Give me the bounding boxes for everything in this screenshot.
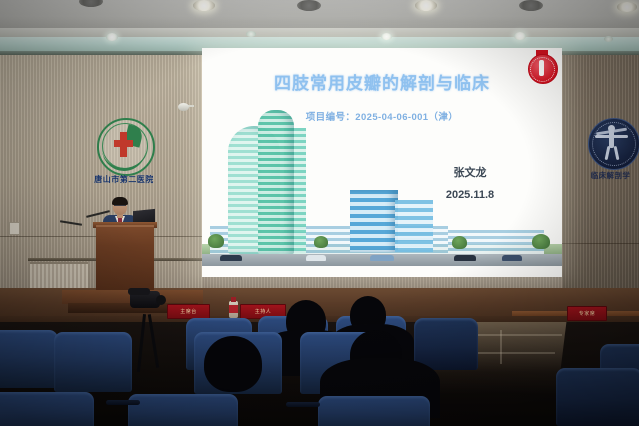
ceiling-downlight-on bbox=[617, 2, 637, 12]
anatomy-logo-right-label: 临床解剖学 bbox=[582, 170, 639, 181]
hospital-logo-left-label: 唐山市第二医院 bbox=[92, 174, 156, 185]
slide-tree bbox=[452, 236, 467, 249]
anatomy-logo-right: 临床解剖学 bbox=[582, 118, 639, 190]
nameplate: 主席台 bbox=[167, 304, 210, 319]
lecture-hall-photo: 四肢常用皮瓣的解剖与临床 项目编号：2025-04-06-001（津） 张文龙 … bbox=[0, 0, 639, 426]
slide-car bbox=[306, 255, 326, 261]
slide-tree bbox=[532, 234, 550, 249]
podium bbox=[96, 225, 154, 295]
floor-seam bbox=[500, 330, 502, 364]
seat[interactable] bbox=[414, 318, 478, 370]
cove-light bbox=[514, 32, 526, 40]
nameplate: 专家席 bbox=[567, 306, 607, 321]
seat[interactable] bbox=[128, 394, 238, 426]
slide-author: 张文龙 bbox=[380, 164, 560, 180]
slide-tower-b bbox=[258, 110, 294, 254]
light-switch[interactable] bbox=[9, 222, 20, 235]
slide-tree bbox=[208, 234, 224, 248]
ceiling-downlight-off bbox=[297, 0, 321, 11]
slide-title: 四肢常用皮瓣的解剖与临床 bbox=[202, 69, 562, 94]
seat[interactable] bbox=[556, 368, 639, 426]
seat[interactable] bbox=[54, 332, 132, 392]
speaker-hair bbox=[112, 197, 128, 205]
slide-car bbox=[454, 255, 476, 261]
slide-tree bbox=[314, 236, 328, 248]
slide-project-number: 项目编号：2025-04-06-001（津） bbox=[202, 109, 562, 123]
ceiling-downlight-on bbox=[193, 0, 215, 11]
seat[interactable] bbox=[318, 396, 430, 426]
slide-midrise-b bbox=[395, 200, 433, 252]
seat-armrest bbox=[106, 400, 140, 405]
ceiling-downlight-on bbox=[415, 0, 437, 11]
projection-screen: 四肢常用皮瓣的解剖与临床 项目编号：2025-04-06-001（津） 张文龙 … bbox=[202, 48, 562, 277]
cove-light bbox=[106, 33, 118, 41]
audience-head bbox=[204, 336, 262, 392]
seat[interactable] bbox=[0, 392, 94, 426]
red-medical-emblem-icon bbox=[527, 50, 557, 84]
cove-light bbox=[246, 31, 256, 37]
hospital-logo-left: 唐山市第二医院 bbox=[92, 118, 156, 190]
slide-date: 2025.11.8 bbox=[380, 189, 560, 201]
water-bottle bbox=[229, 296, 238, 318]
seat-armrest bbox=[286, 402, 320, 407]
seat[interactable] bbox=[0, 330, 58, 388]
ceiling-downlight-off bbox=[519, 0, 543, 11]
video-camera-tripod[interactable] bbox=[126, 287, 166, 317]
speaker-glasses bbox=[114, 205, 126, 209]
cove-light bbox=[381, 33, 392, 40]
cove-light bbox=[604, 36, 613, 42]
security-camera-icon bbox=[176, 101, 192, 113]
slide-car bbox=[220, 255, 242, 261]
slide-car bbox=[370, 255, 394, 261]
wall-trim-right bbox=[562, 243, 639, 244]
slide-car bbox=[502, 255, 522, 261]
